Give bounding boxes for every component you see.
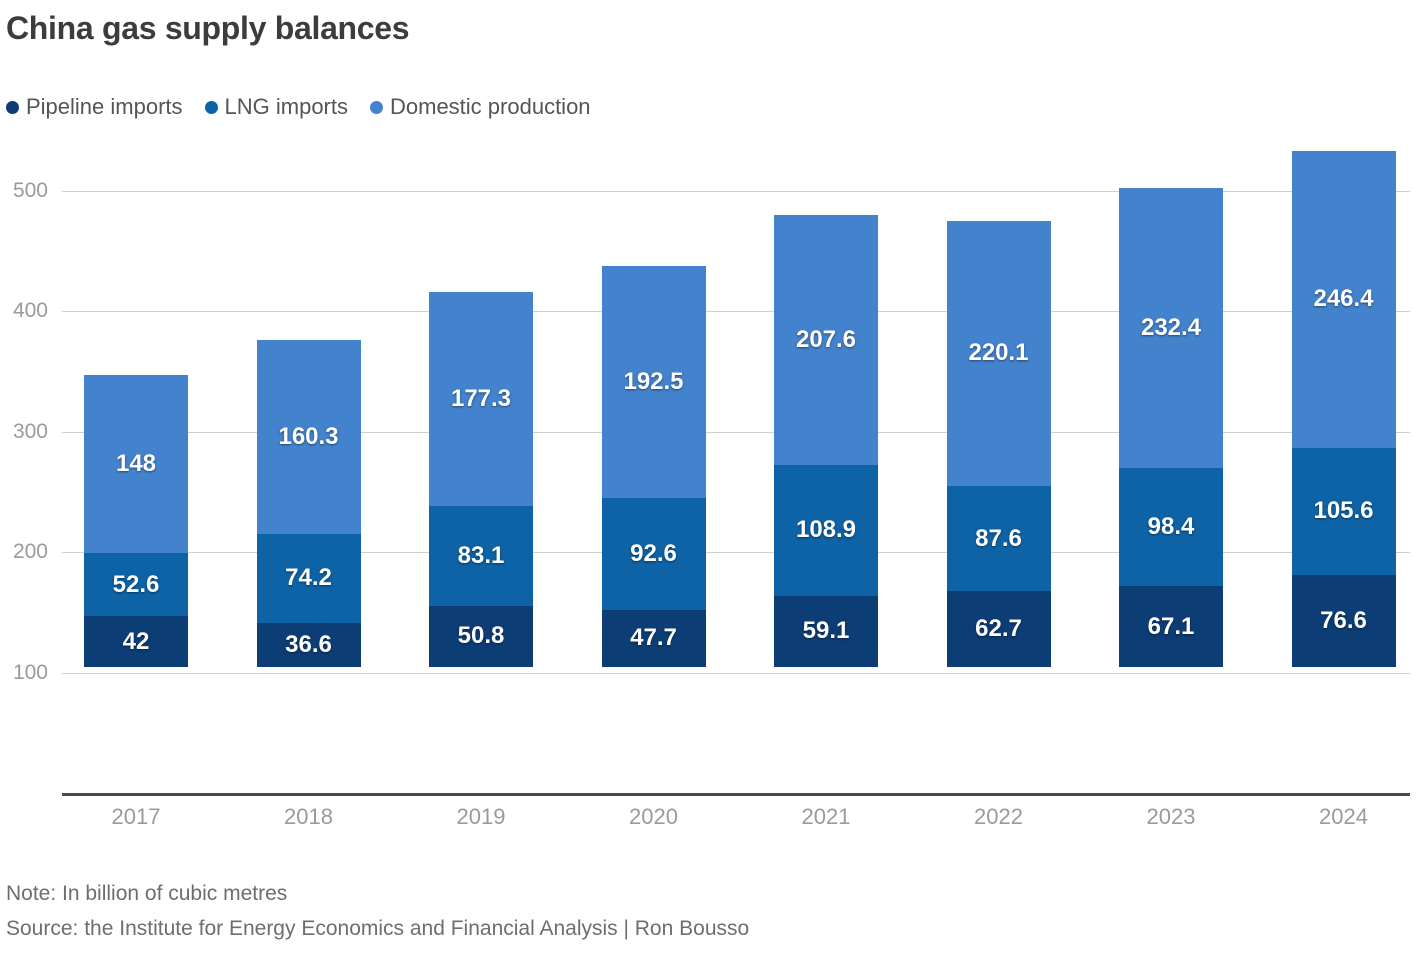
bar-value-label: 36.6 (285, 633, 332, 657)
y-axis-tick-label: 400 (0, 300, 48, 321)
chart-plot-area: 100200300400500 4252.614836.674.2160.350… (0, 0, 1420, 830)
bar-stack[interactable]: 50.883.1177.3 (429, 292, 533, 667)
x-axis-line (62, 793, 1410, 796)
bar-segment[interactable]: 246.4 (1292, 151, 1396, 448)
x-axis-tick-label: 2019 (429, 806, 533, 828)
x-axis-tick-label: 2020 (602, 806, 706, 828)
bar-stack[interactable]: 59.1108.9207.6 (774, 215, 878, 667)
bar-value-label: 59.1 (803, 619, 850, 643)
bar-segment[interactable]: 42 (84, 616, 188, 667)
bar-value-label: 207.6 (796, 328, 856, 352)
bar-value-label: 62.7 (975, 617, 1022, 641)
bar-segment[interactable]: 47.7 (602, 610, 706, 667)
bar-value-label: 83.1 (458, 544, 505, 568)
bar-segment[interactable]: 62.7 (947, 591, 1051, 667)
x-axis-tick-label: 2021 (774, 806, 878, 828)
bar-value-label: 108.9 (796, 518, 856, 542)
y-axis-tick-label: 300 (0, 421, 48, 442)
bar-value-label: 177.3 (451, 387, 511, 411)
bar-segment[interactable]: 232.4 (1119, 188, 1223, 468)
bar-segment[interactable]: 98.4 (1119, 468, 1223, 587)
bar-stack[interactable]: 76.6105.6246.4 (1292, 151, 1396, 667)
bar-segment[interactable]: 36.6 (257, 623, 361, 667)
gridline (62, 673, 1410, 674)
bar-segment[interactable]: 160.3 (257, 340, 361, 533)
bar-segment[interactable]: 177.3 (429, 292, 533, 506)
bar-value-label: 76.6 (1320, 609, 1367, 633)
bar-segment[interactable]: 83.1 (429, 506, 533, 606)
x-axis-tick-label: 2018 (257, 806, 361, 828)
x-axis-tick-label: 2024 (1292, 806, 1396, 828)
y-axis-tick-label: 500 (0, 180, 48, 201)
bar-value-label: 192.5 (623, 370, 683, 394)
bar-segment[interactable]: 67.1 (1119, 586, 1223, 667)
bar-segment[interactable]: 148 (84, 375, 188, 553)
bar-value-label: 42 (123, 630, 150, 654)
bar-segment[interactable]: 220.1 (947, 221, 1051, 486)
x-axis-tick-label: 2022 (947, 806, 1051, 828)
y-axis-tick-label: 200 (0, 541, 48, 562)
bar-value-label: 74.2 (285, 566, 332, 590)
x-axis-tick-label: 2017 (84, 806, 188, 828)
bar-segment[interactable]: 105.6 (1292, 448, 1396, 575)
bar-segment[interactable]: 207.6 (774, 215, 878, 465)
bar-value-label: 52.6 (113, 573, 160, 597)
bar-value-label: 105.6 (1313, 499, 1373, 523)
bar-value-label: 98.4 (1148, 515, 1195, 539)
bar-segment[interactable]: 52.6 (84, 553, 188, 616)
bar-segment[interactable]: 50.8 (429, 606, 533, 667)
bar-value-label: 246.4 (1313, 287, 1373, 311)
bar-value-label: 50.8 (458, 624, 505, 648)
bar-stack[interactable]: 36.674.2160.3 (257, 340, 361, 667)
bar-value-label: 87.6 (975, 527, 1022, 551)
bar-value-label: 220.1 (968, 341, 1028, 365)
bar-value-label: 47.7 (630, 626, 677, 650)
bar-value-label: 232.4 (1141, 316, 1201, 340)
bar-value-label: 148 (116, 452, 156, 476)
bar-segment[interactable]: 108.9 (774, 465, 878, 596)
bar-segment[interactable]: 87.6 (947, 486, 1051, 592)
footer-note: Note: In billion of cubic metres (6, 882, 749, 905)
bar-stack[interactable]: 47.792.6192.5 (602, 266, 706, 667)
x-axis-tick-label: 2023 (1119, 806, 1223, 828)
bar-segment[interactable]: 76.6 (1292, 575, 1396, 667)
bar-value-label: 67.1 (1148, 615, 1195, 639)
bar-segment[interactable]: 74.2 (257, 534, 361, 623)
bar-segment[interactable]: 92.6 (602, 498, 706, 610)
chart-footer: Note: In billion of cubic metres Source:… (6, 882, 749, 940)
bar-segment[interactable]: 59.1 (774, 596, 878, 667)
bar-stack[interactable]: 67.198.4232.4 (1119, 188, 1223, 667)
footer-source: Source: the Institute for Energy Economi… (6, 917, 749, 940)
bar-stack[interactable]: 4252.6148 (84, 375, 188, 667)
y-axis-tick-label: 100 (0, 662, 48, 683)
bar-value-label: 160.3 (278, 425, 338, 449)
bar-value-label: 92.6 (630, 542, 677, 566)
bar-stack[interactable]: 62.787.6220.1 (947, 221, 1051, 667)
bar-segment[interactable]: 192.5 (602, 266, 706, 498)
